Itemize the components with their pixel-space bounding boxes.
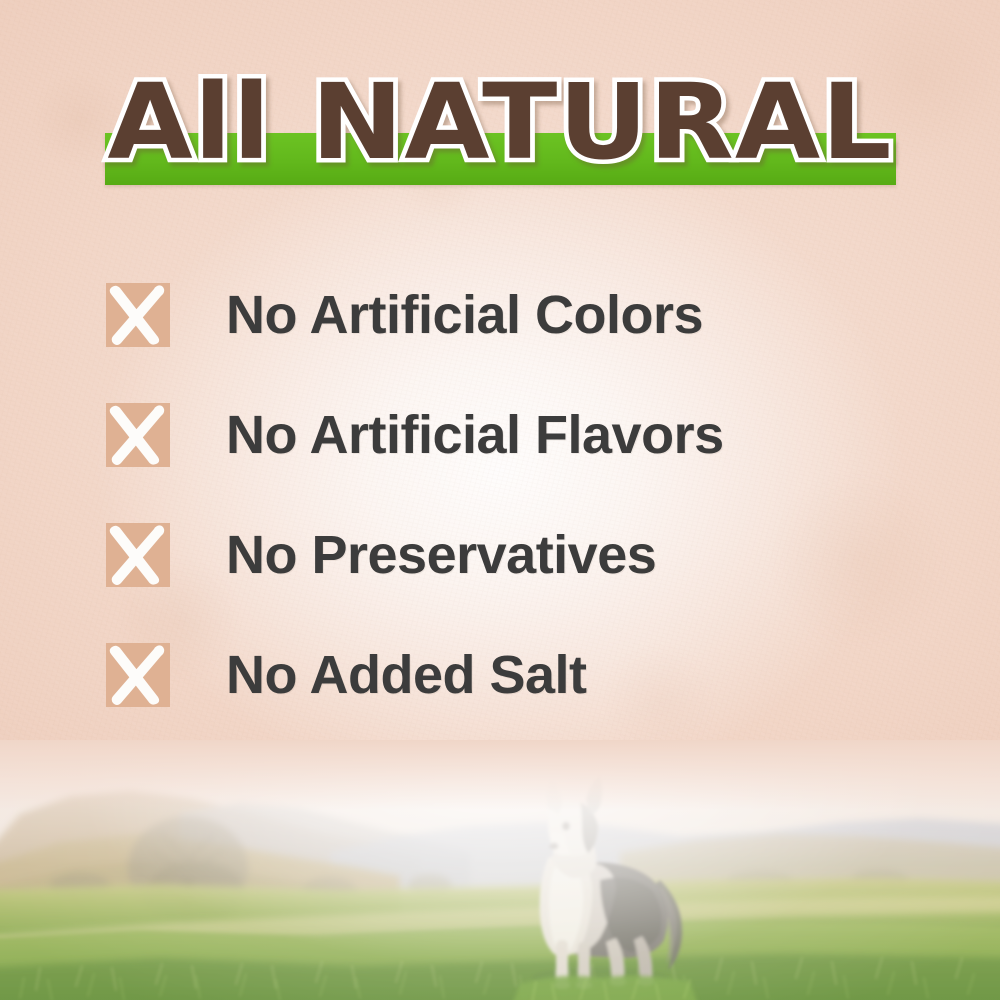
claim-label: No Preservatives [226, 527, 656, 583]
claim-label: No Artificial Colors [226, 287, 703, 343]
claims-list: No Artificial Colors No Artificial Flavo… [106, 255, 936, 735]
landscape-dog-photo [0, 740, 1000, 1000]
claim-label: No Added Salt [226, 647, 587, 703]
claim-label: No Artificial Flavors [226, 407, 724, 463]
claim-row: No Artificial Colors [106, 255, 936, 375]
headline-block: All NATURAL [0, 70, 1000, 200]
claim-row: No Preservatives [106, 495, 936, 615]
x-mark-icon [106, 523, 170, 587]
x-mark-icon [106, 643, 170, 707]
claim-row: No Artificial Flavors [106, 375, 936, 495]
headline-text: All NATURAL [0, 70, 1000, 174]
claim-row: No Added Salt [106, 615, 936, 735]
x-mark-icon [106, 283, 170, 347]
poster-canvas: All NATURAL No Artificial Colors No Arti… [0, 0, 1000, 1000]
x-mark-icon [106, 403, 170, 467]
